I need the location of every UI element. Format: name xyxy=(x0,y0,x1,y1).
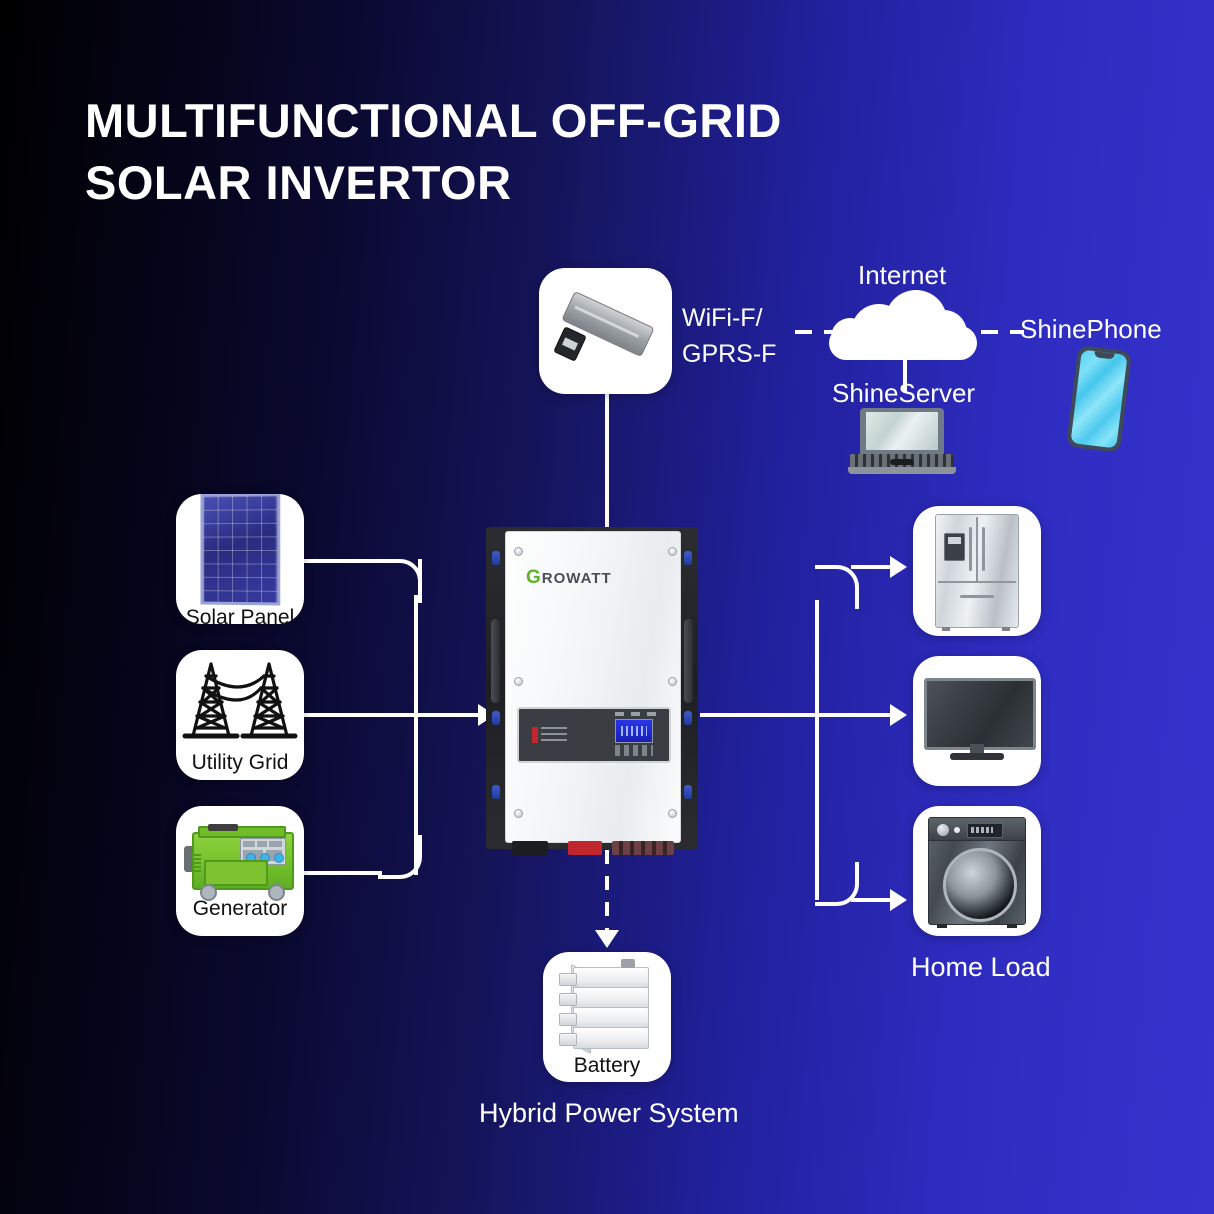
connector-utility-horizontal xyxy=(300,713,486,717)
title-line-2: SOLAR INVERTOR xyxy=(85,152,905,214)
title-line-1: MULTIFUNCTIONAL OFF-GRID xyxy=(85,90,905,152)
connector-dongle-vertical xyxy=(605,392,609,532)
laptop-icon xyxy=(848,408,956,474)
page-title: MULTIFUNCTIONAL OFF-GRID SOLAR INVERTOR xyxy=(85,90,905,214)
inverter-heatsink-left xyxy=(491,619,500,703)
refrigerator-icon xyxy=(935,514,1019,628)
hybrid-power-system-label: Hybrid Power System xyxy=(479,1098,739,1129)
inverter-screw xyxy=(668,677,677,686)
connector-fridge-corner xyxy=(815,565,859,609)
television-icon xyxy=(924,678,1030,764)
card-generator[interactable]: Generator xyxy=(176,806,304,936)
connector-fridge-horizontal xyxy=(851,565,893,569)
utility-grid-icon xyxy=(181,658,299,750)
brand-rest: ROWATT xyxy=(542,570,612,587)
panel-top-indicators xyxy=(615,712,661,716)
inverter-screw xyxy=(668,547,677,556)
inverter-bolt xyxy=(684,785,692,799)
inverter-bolt xyxy=(492,785,500,799)
battery-icon xyxy=(559,963,655,1055)
arrow-battery xyxy=(595,930,619,948)
generator-label: Generator xyxy=(193,898,288,919)
arrow-washer xyxy=(890,889,907,911)
wifi-gprs-line-2: GPRS-F xyxy=(682,336,776,372)
card-washing-machine[interactable] xyxy=(913,806,1041,936)
inverter-red-connector xyxy=(568,841,602,855)
home-load-label: Home Load xyxy=(911,952,1051,983)
wifi-gprs-line-1: WiFi-F/ xyxy=(682,300,776,336)
battery-label: Battery xyxy=(574,1055,641,1076)
arrow-fridge xyxy=(890,556,907,578)
card-wifi-dongle[interactable] xyxy=(539,268,672,394)
brand-initial: G xyxy=(526,567,542,588)
card-utility-grid[interactable]: Utility Grid xyxy=(176,650,304,780)
smartphone-icon xyxy=(1072,348,1126,450)
inverter-bolt xyxy=(684,711,692,725)
card-solar-panel[interactable]: Solar Panel xyxy=(176,494,304,624)
inverter-screw xyxy=(514,547,523,556)
card-television[interactable] xyxy=(913,656,1041,786)
inverter-bolt xyxy=(492,711,500,725)
wifi-dongle-icon xyxy=(554,294,658,368)
shine-phone-label: ShinePhone xyxy=(1020,314,1162,345)
card-refrigerator[interactable] xyxy=(913,506,1041,636)
connector-load-vertical-bus xyxy=(815,600,819,900)
inverter-bolt xyxy=(684,551,692,565)
inverter-dc-connector xyxy=(512,841,548,855)
infographic-canvas: MULTIFUNCTIONAL OFF-GRID SOLAR INVERTOR xyxy=(0,0,1214,1214)
internet-label: Internet xyxy=(858,260,946,291)
solar-panel-label: Solar Panel xyxy=(186,607,295,625)
connector-left-vertical-bus xyxy=(414,595,418,875)
connector-generator-corner xyxy=(378,835,422,879)
inverter-bolt xyxy=(492,551,500,565)
panel-lcd-display xyxy=(615,719,653,743)
panel-buttons[interactable] xyxy=(615,745,653,756)
solar-panel-icon xyxy=(200,494,280,605)
cloud-icon xyxy=(823,288,983,366)
inverter-control-panel[interactable] xyxy=(517,707,671,763)
arrow-tv xyxy=(890,704,907,726)
panel-status-leds xyxy=(541,727,567,743)
inverter-screw xyxy=(514,809,523,818)
inverter-brand-logo: GROWATT xyxy=(526,567,612,589)
washing-machine-icon xyxy=(928,817,1026,925)
inverter-screw xyxy=(514,677,523,686)
panel-red-marker xyxy=(532,727,538,743)
wifi-gprs-label: WiFi-F/ GPRS-F xyxy=(682,300,776,373)
inverter-heatsink-right xyxy=(684,619,693,703)
connector-washer-horizontal xyxy=(851,898,893,902)
shine-server-label: ShineServer xyxy=(832,378,975,409)
card-battery[interactable]: Battery xyxy=(543,952,671,1082)
inverter-screw xyxy=(668,809,677,818)
utility-grid-label: Utility Grid xyxy=(192,752,289,773)
connector-load-horizontal xyxy=(700,713,896,717)
inverter-terminal-block xyxy=(612,841,674,855)
generator-icon xyxy=(184,824,296,896)
solar-inverter-unit[interactable]: GROWATT xyxy=(486,527,698,859)
connector-generator-horizontal xyxy=(300,871,382,875)
